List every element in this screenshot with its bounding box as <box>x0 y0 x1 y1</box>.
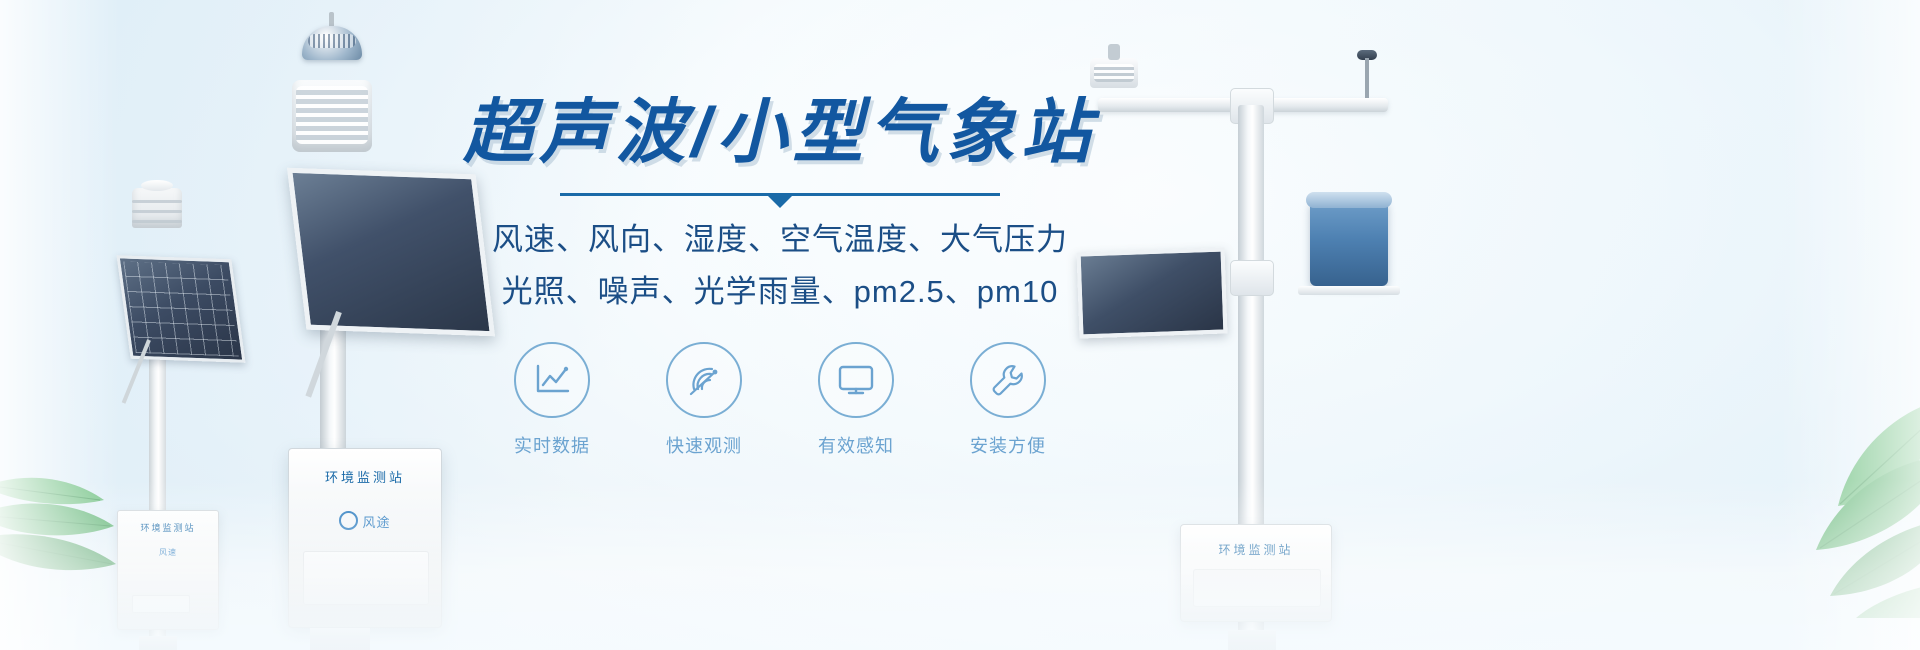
weather-station-right: 环境监测站 <box>1070 50 1400 650</box>
small-solar-cells <box>123 261 239 356</box>
title-divider <box>560 193 1000 196</box>
right-mid-clamp <box>1230 260 1274 296</box>
radar-signal-icon <box>685 362 723 398</box>
right-cabinet-door <box>1193 569 1321 607</box>
feature-icon-circle <box>818 342 894 418</box>
subtitle-line-1: 风速、风向、湿度、空气温度、大气压力 <box>430 216 1130 264</box>
feature-icon-circle <box>970 342 1046 418</box>
small-sensor-fin <box>132 210 182 213</box>
main-cabinet-brand: 风途 <box>289 511 441 531</box>
subtitle-line-2: 光照、噪声、光学雨量、pm2.5、pm10 <box>430 268 1130 316</box>
right-control-cabinet: 环境监测站 <box>1180 524 1332 622</box>
right-cabinet-label: 环境监测站 <box>1181 541 1331 558</box>
subtitle-block: 风速、风向、湿度、空气温度、大气压力 光照、噪声、光学雨量、pm2.5、pm10 <box>430 216 1130 316</box>
feature-list: 实时数据 快速观测 <box>430 342 1130 458</box>
small-station-base <box>139 636 177 650</box>
small-cabinet-door <box>132 595 190 613</box>
right-ultrasonic-sensor-icon <box>1090 58 1138 88</box>
weather-station-small: 环境监测站 风速 <box>105 180 285 650</box>
small-solar-panel <box>116 255 245 363</box>
wrench-icon <box>989 361 1027 399</box>
main-station-base <box>310 628 370 650</box>
main-control-cabinet: 环境监测站 风途 <box>288 448 442 628</box>
right-station-base <box>1228 630 1276 650</box>
small-sensor-fin <box>132 220 182 223</box>
main-brand-text: 风途 <box>362 515 390 530</box>
right-solar-panel <box>1077 247 1228 338</box>
right-rain-gauge-icon <box>1310 200 1388 286</box>
feature-icon-circle <box>666 342 742 418</box>
page-title: 超声波/小型气象站 <box>430 96 1130 169</box>
line-chart-icon <box>533 363 571 397</box>
feature-item-realtime-data[interactable]: 实时数据 <box>497 342 607 458</box>
brand-mark-icon <box>339 511 358 530</box>
main-cabinet-label: 环境监测站 <box>289 467 441 486</box>
decorative-leaf-right-icon <box>1640 360 1920 620</box>
main-sensor-dome-icon <box>302 26 362 60</box>
wind-vane-rod <box>1365 58 1369 98</box>
feature-item-effective-sensing[interactable]: 有效感知 <box>801 342 911 458</box>
feature-item-fast-observation[interactable]: 快速观测 <box>649 342 759 458</box>
right-edge-fade <box>1780 0 1920 650</box>
feature-icon-circle <box>514 342 590 418</box>
product-banner: 环境监测站 风速 环境监测站 风途 超声波/小型气象站 风速、 <box>0 0 1920 650</box>
right-solar-cells <box>1081 252 1221 257</box>
small-cabinet-label: 环境监测站 <box>126 521 210 534</box>
feature-label: 实时数据 <box>497 432 607 458</box>
small-cabinet-brand: 风速 <box>118 547 218 558</box>
left-edge-fade <box>0 0 120 650</box>
right-wind-vane-icon <box>1355 50 1379 98</box>
main-radiation-shield <box>292 80 372 152</box>
feature-label: 有效感知 <box>801 432 911 458</box>
small-sensor-fin <box>132 200 182 203</box>
small-control-cabinet: 环境监测站 风速 <box>117 510 219 630</box>
feature-label: 安装方便 <box>953 432 1063 458</box>
feature-label: 快速观测 <box>649 432 759 458</box>
feature-item-easy-installation[interactable]: 安装方便 <box>953 342 1063 458</box>
banner-content: 超声波/小型气象站 风速、风向、湿度、空气温度、大气压力 光照、噪声、光学雨量、… <box>430 96 1130 458</box>
main-cabinet-door <box>303 551 429 605</box>
monitor-screen-icon <box>836 363 876 397</box>
right-equipment-shelf <box>1298 286 1400 295</box>
divider-triangle-icon <box>767 195 793 208</box>
